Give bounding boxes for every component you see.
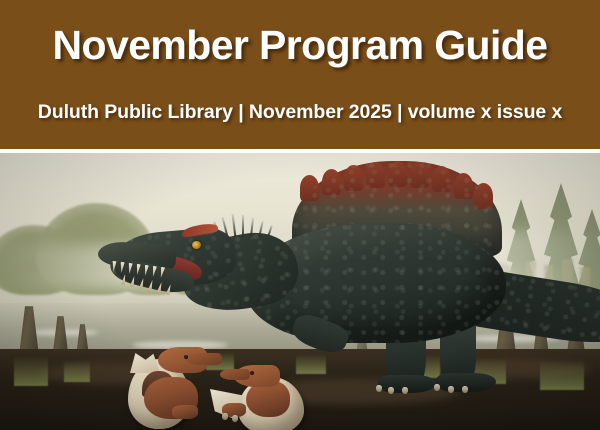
hatchling-forelimb <box>172 405 198 419</box>
spinosaurus-foot <box>436 373 496 392</box>
spinosaurus-eye <box>192 241 201 249</box>
spinosaurus-foot <box>378 375 436 393</box>
page-title: November Program Guide <box>0 24 600 67</box>
cover-photo: DULUTH PUBLIC LIBRARY <box>0 153 600 430</box>
hatchling-snout <box>220 369 250 380</box>
grass-tuft <box>64 360 90 382</box>
hatchling-snout <box>186 353 222 365</box>
egg-shard <box>130 353 160 373</box>
photo-scene <box>0 153 600 430</box>
masthead-subtitle: Duluth Public Library | November 2025 | … <box>0 101 600 124</box>
masthead-band: November Program Guide Duluth Public Lib… <box>0 0 600 149</box>
grass-tuft <box>14 356 48 386</box>
hatchling-eye <box>184 355 188 359</box>
nest-with-hatchlings <box>128 329 318 430</box>
hatchling-eye <box>250 371 254 375</box>
